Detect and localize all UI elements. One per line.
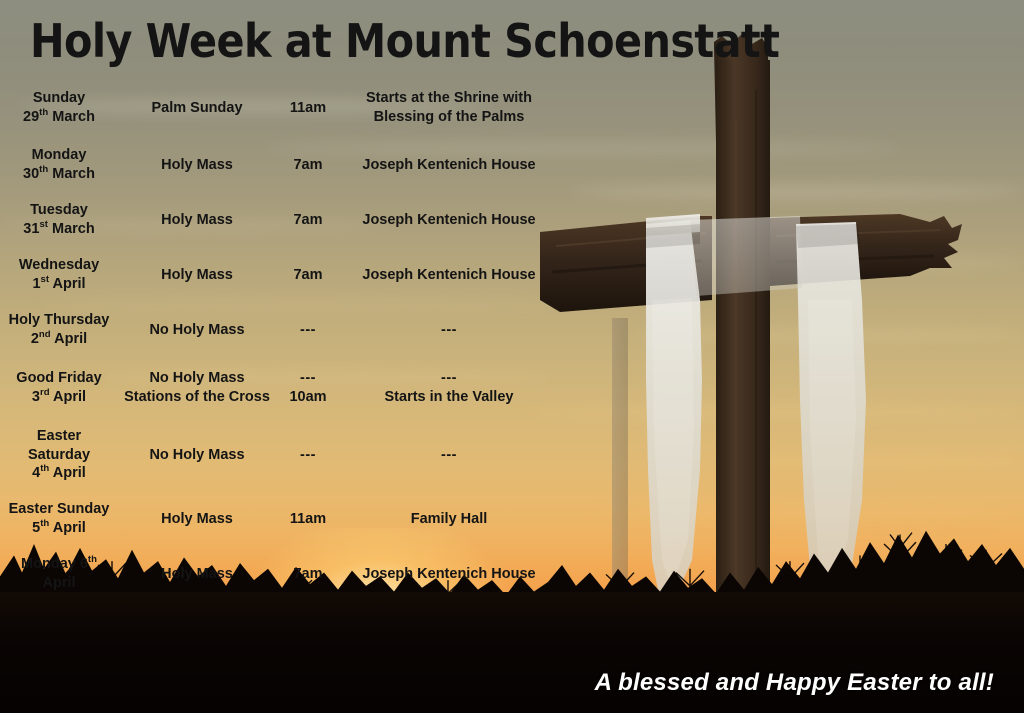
table-row: Monday 6th April Holy Mass 7am Joseph Ke… (0, 552, 560, 596)
schedule-location: Joseph Kentenich House (340, 565, 558, 584)
schedule-day: Sunday 29th March (0, 89, 118, 126)
schedule-location: Family Hall (340, 510, 558, 529)
schedule-service: No Holy Mass Stations of the Cross (118, 369, 276, 407)
table-row: Wednesday 1st April Holy Mass 7am Joseph… (0, 253, 560, 297)
table-row: Easter Sunday 5th April Holy Mass 11am F… (0, 497, 560, 541)
table-row: Monday 30th March Holy Mass 7am Joseph K… (0, 143, 560, 187)
holy-week-schedule-table: Sunday 29th March Palm Sunday 11am Start… (0, 84, 560, 607)
schedule-time: 7am (276, 211, 340, 230)
schedule-day: Easter Saturday 4th April (0, 427, 118, 483)
schedule-time: --- (276, 321, 340, 340)
schedule-day: Easter Sunday 5th April (0, 500, 118, 537)
schedule-day: Monday 30th March (0, 146, 118, 183)
schedule-service: Palm Sunday (118, 99, 276, 118)
schedule-location: --- (340, 446, 558, 465)
schedule-time: 7am (276, 156, 340, 175)
schedule-service: Holy Mass (118, 266, 276, 285)
page-title: Holy Week at Mount Schoenstatt (30, 17, 779, 65)
schedule-service: Holy Mass (118, 156, 276, 175)
schedule-time: 11am (276, 99, 340, 118)
holy-week-poster: Holy Week at Mount Schoenstatt Sunday 29… (0, 0, 1024, 713)
schedule-location: Starts at the Shrine with Blessing of th… (340, 89, 558, 127)
schedule-location: --- Starts in the Valley (340, 369, 558, 407)
schedule-day: Good Friday 3rd April (0, 369, 118, 406)
schedule-day: Tuesday 31st March (0, 201, 118, 238)
table-row: Holy Thursday 2nd April No Holy Mass ---… (0, 308, 560, 352)
schedule-time: --- (276, 446, 340, 465)
table-row: Tuesday 31st March Holy Mass 7am Joseph … (0, 198, 560, 242)
schedule-day: Monday 6th April (0, 555, 118, 592)
schedule-service: Holy Mass (118, 565, 276, 584)
schedule-location: Joseph Kentenich House (340, 266, 558, 285)
schedule-time: 11am (276, 510, 340, 529)
schedule-service: Holy Mass (118, 211, 276, 230)
schedule-time: --- 10am (276, 369, 340, 407)
schedule-day: Holy Thursday 2nd April (0, 311, 118, 348)
table-row: Easter Saturday 4th April No Holy Mass -… (0, 424, 560, 486)
schedule-time: 7am (276, 266, 340, 285)
schedule-service: No Holy Mass (118, 446, 276, 465)
schedule-service: Holy Mass (118, 510, 276, 529)
table-row: Sunday 29th March Palm Sunday 11am Start… (0, 84, 560, 132)
schedule-location: --- (340, 321, 558, 340)
schedule-location: Joseph Kentenich House (340, 156, 558, 175)
schedule-day: Wednesday 1st April (0, 256, 118, 293)
table-row: Good Friday 3rd April No Holy Mass Stati… (0, 363, 560, 413)
schedule-location: Joseph Kentenich House (340, 211, 558, 230)
schedule-service: No Holy Mass (118, 321, 276, 340)
schedule-time: 7am (276, 565, 340, 584)
easter-greeting: A blessed and Happy Easter to all! (595, 669, 994, 697)
